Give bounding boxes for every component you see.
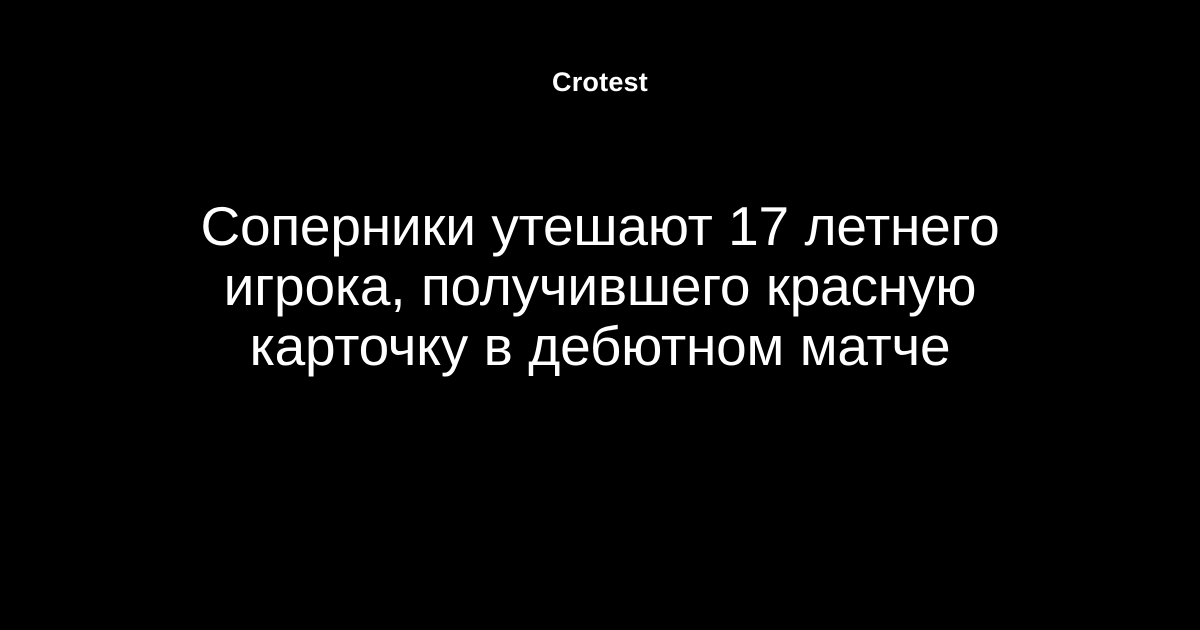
empty-footer-area [0,400,1200,630]
site-name: Crotest [552,66,648,98]
headline-block: Соперники утешают 17 летнего игрока, пол… [170,196,1030,376]
page-title: Соперники утешают 17 летнего игрока, пол… [170,196,1030,376]
share-card: Crotest Соперники утешают 17 летнего игр… [0,0,1200,630]
brand-row: Crotest [0,66,1200,98]
